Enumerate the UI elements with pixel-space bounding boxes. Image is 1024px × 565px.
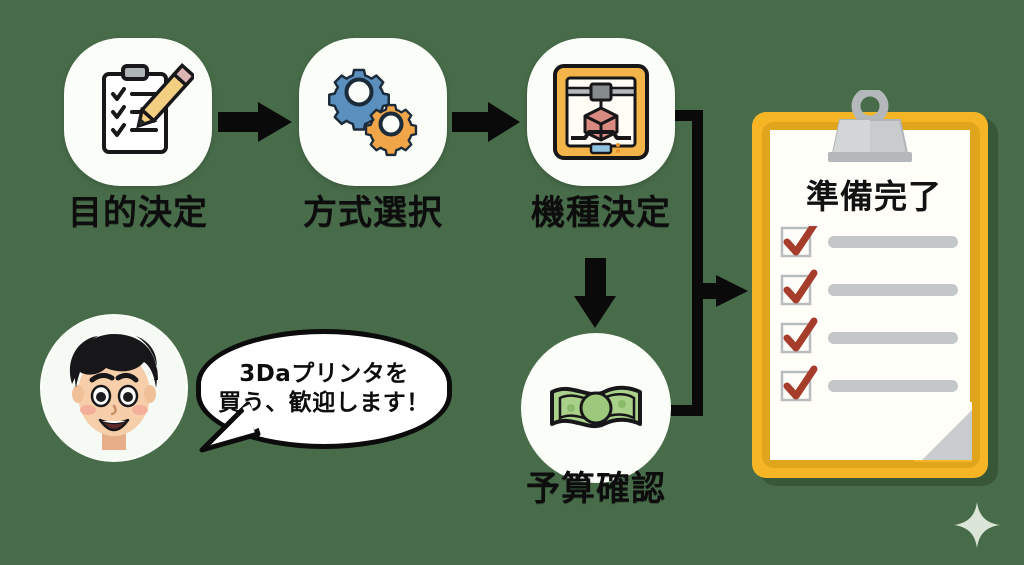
checklist-row	[782, 321, 958, 352]
checklist-row	[782, 273, 958, 304]
step-tile-purpose[interactable]	[64, 38, 212, 186]
step-tile-model[interactable]	[527, 38, 675, 186]
checklist-row	[782, 369, 958, 400]
avatar[interactable]	[40, 314, 188, 462]
checklist-row	[782, 226, 958, 256]
speech-line-1: 3Daプリンタを	[239, 360, 409, 389]
gears-icon	[315, 54, 431, 170]
sparkle-icon	[950, 498, 1004, 552]
diagram-canvas: 目的決定 方式選択	[0, 0, 1024, 565]
step-label-model: 機種決定	[527, 196, 675, 230]
arrow-method-to-model	[452, 102, 520, 142]
step-label-budget: 予算確認	[521, 472, 671, 506]
avatar-face-icon	[40, 314, 188, 462]
result-title: 準備完了	[752, 170, 996, 218]
clipboard-clip-icon	[814, 90, 926, 168]
step-tile-method[interactable]	[299, 38, 447, 186]
step-label-purpose: 目的決定	[64, 196, 212, 230]
banknote-icon	[544, 356, 648, 460]
result-checklist	[780, 226, 966, 412]
arrow-purpose-to-method	[218, 102, 292, 142]
3d-printer-icon	[545, 56, 657, 168]
clipboard-pencil-icon	[82, 56, 194, 168]
speech-bubble-tail	[196, 400, 286, 460]
arrow-model-to-budget	[574, 258, 616, 328]
result-clipboard[interactable]: 準備完了	[752, 108, 996, 484]
step-label-method: 方式選択	[299, 196, 447, 230]
step-circle-budget[interactable]	[521, 333, 671, 483]
